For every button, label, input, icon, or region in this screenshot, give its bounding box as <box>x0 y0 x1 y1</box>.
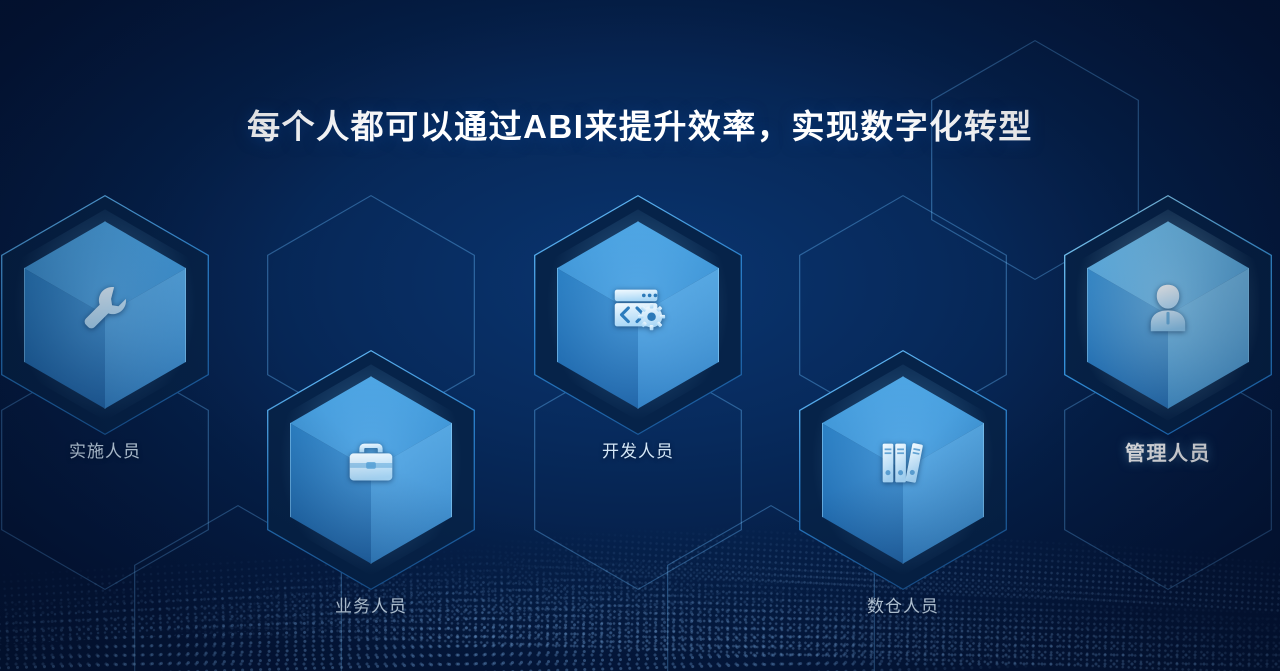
role-label-management: 管理人员 <box>1048 437 1280 466</box>
role-node-implementation[interactable] <box>1 195 209 435</box>
role-node-developer[interactable] <box>534 195 742 435</box>
code-window-gear-icon <box>607 277 669 339</box>
role-label-developer: 开发人员 <box>518 437 758 462</box>
page-title: 每个人都可以通过ABI来提升效率，实现数字化转型 <box>0 100 1280 148</box>
wrench-icon <box>74 277 136 339</box>
role-label-warehouse: 数仓人员 <box>783 592 1023 617</box>
role-node-business[interactable] <box>267 350 475 590</box>
binders-icon <box>872 432 934 494</box>
briefcase-icon <box>340 432 402 494</box>
role-node-warehouse[interactable] <box>799 350 1007 590</box>
role-node-management[interactable] <box>1064 195 1272 435</box>
slide-canvas: 每个人都可以通过ABI来提升效率，实现数字化转型 实施人员业务人员开发人员数仓人… <box>0 0 1280 671</box>
user-person-icon <box>1137 277 1199 339</box>
role-label-business: 业务人员 <box>251 592 491 617</box>
role-label-implementation: 实施人员 <box>0 437 225 462</box>
